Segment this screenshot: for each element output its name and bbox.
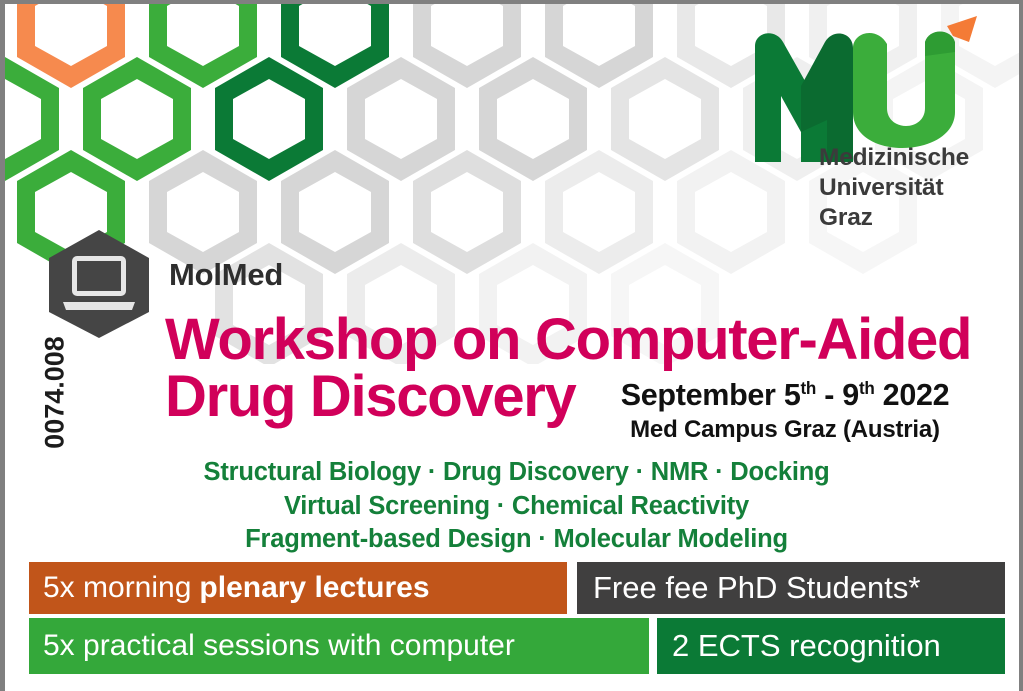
university-name: Medizinische Universität Graz <box>819 143 1001 233</box>
banner-plenary-lectures: 5x morningplenary lectures <box>29 562 567 614</box>
event-day-start-suffix: th <box>801 379 817 398</box>
banner-gap <box>567 562 577 614</box>
banner-ects: 2 ECTS recognition <box>657 618 1005 674</box>
event-venue: Med Campus Graz (Austria) <box>585 416 985 444</box>
event-day-end-suffix: th <box>859 379 875 398</box>
course-number: 0074.008 <box>40 328 71 458</box>
event-year: 2022 <box>883 378 950 412</box>
banner-row-top: 5x morningplenary lectures Free fee PhD … <box>29 562 1005 614</box>
highlight-banners: 5x morningplenary lectures Free fee PhD … <box>29 562 1005 678</box>
banner-plenary-lectures-bold: plenary lectures <box>199 571 429 605</box>
mu-monogram-icon <box>741 12 1001 162</box>
event-day-start: 5 <box>784 378 801 412</box>
university-name-line-1: Medizinische <box>819 143 1001 173</box>
university-name-line-2: Universität Graz <box>819 173 1001 233</box>
banner-free-fee: Free fee PhD Students* <box>577 562 1005 614</box>
university-logo: Medizinische Universität Graz <box>741 12 1001 224</box>
event-date-block: September 5th - 9th 2022 Med Campus Graz… <box>585 378 985 444</box>
banner-row-bottom: 5x practical sessions with computer 2 EC… <box>29 618 1005 674</box>
banner-practical-sessions: 5x practical sessions with computer <box>29 618 649 674</box>
event-month: September <box>621 378 776 412</box>
banner-gap <box>649 618 657 674</box>
event-date-dash: - <box>824 378 834 412</box>
topic-line-3: Fragment-based Design · Molecular Modeli… <box>5 523 1023 557</box>
title-line-1: Workshop on Computer-Aided <box>165 311 1005 368</box>
event-day-end: 9 <box>842 378 859 412</box>
topic-line-2: Virtual Screening · Chemical Reactivity <box>5 490 1023 524</box>
event-date: September 5th - 9th 2022 <box>585 378 985 413</box>
molmed-label: MolMed <box>169 257 283 293</box>
topic-line-1: Structural Biology · Drug Discovery · NM… <box>5 456 1023 490</box>
banner-plenary-lectures-normal: 5x morning <box>43 571 191 605</box>
topics-list: Structural Biology · Drug Discovery · NM… <box>5 456 1023 557</box>
molmed-badge-icon <box>43 228 155 340</box>
poster-canvas: Medizinische Universität Graz MolMed 007… <box>0 0 1023 691</box>
